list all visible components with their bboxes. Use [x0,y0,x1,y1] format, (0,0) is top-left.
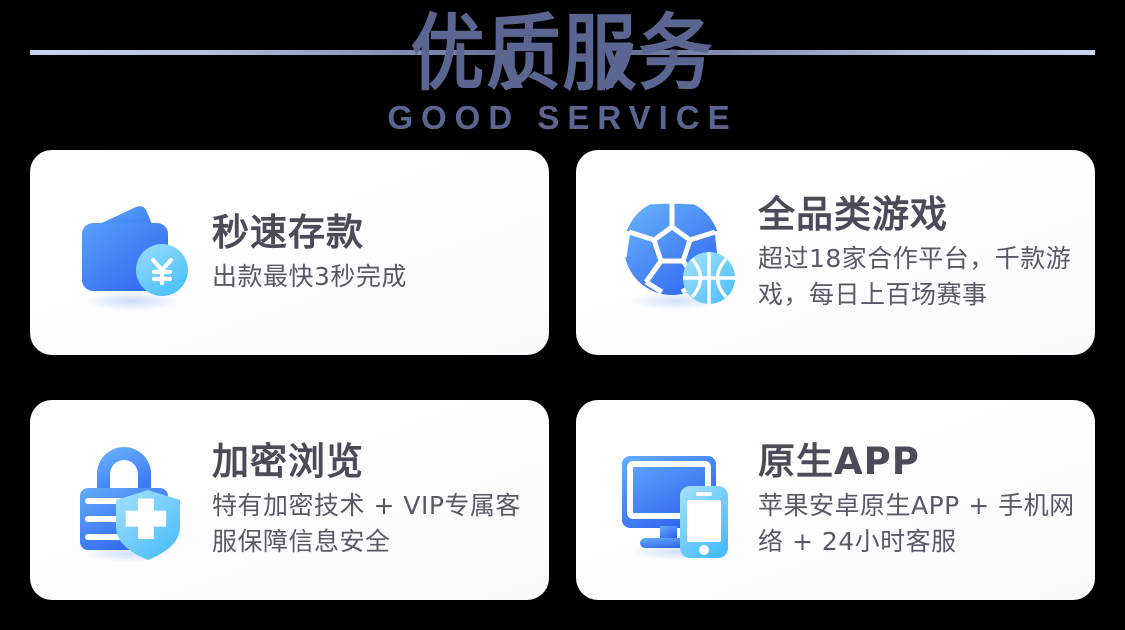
service-card-title: 全品类游戏 [758,193,1077,237]
service-card[interactable]: 加密浏览 特有加密技术 + VIP专属客服保障信息安全 [30,400,549,600]
service-card-desc: 苹果安卓原生APP + 手机网络 + 24小时客服 [758,488,1077,560]
wallet-yen-icon [66,187,198,319]
service-card-title: 原生APP [758,440,1077,484]
service-card-desc: 特有加密技术 + VIP专属客服保障信息安全 [212,488,531,560]
service-card[interactable]: 原生APP 苹果安卓原生APP + 手机网络 + 24小时客服 [576,400,1095,600]
banner-title-cn: 优质服务 [0,6,1125,102]
monitor-phone-icon [612,434,744,566]
service-card[interactable]: 秒速存款 出款最快3秒完成 [30,150,549,355]
service-card-desc: 出款最快3秒完成 [212,259,531,295]
service-card-text: 原生APP 苹果安卓原生APP + 手机网络 + 24小时客服 [758,440,1095,560]
service-card-text: 加密浏览 特有加密技术 + VIP专属客服保障信息安全 [212,440,549,560]
banner-header: 优质服务 GOOD SERVICE [0,0,1125,146]
service-card-title: 加密浏览 [212,440,531,484]
service-card-title: 秒速存款 [212,211,531,255]
good-service-banner: 优质服务 GOOD SERVICE [0,0,1125,630]
service-card-grid: 秒速存款 出款最快3秒完成 [30,150,1095,600]
banner-title-en: GOOD SERVICE [0,99,1125,137]
service-card-text: 全品类游戏 超过18家合作平台，千款游戏，每日上百场赛事 [758,193,1095,313]
service-card-text: 秒速存款 出款最快3秒完成 [212,211,549,295]
lock-shield-icon [66,434,198,566]
service-card[interactable]: 全品类游戏 超过18家合作平台，千款游戏，每日上百场赛事 [576,150,1095,355]
service-card-desc: 超过18家合作平台，千款游戏，每日上百场赛事 [758,241,1077,313]
soccer-basketball-icon [612,187,744,319]
